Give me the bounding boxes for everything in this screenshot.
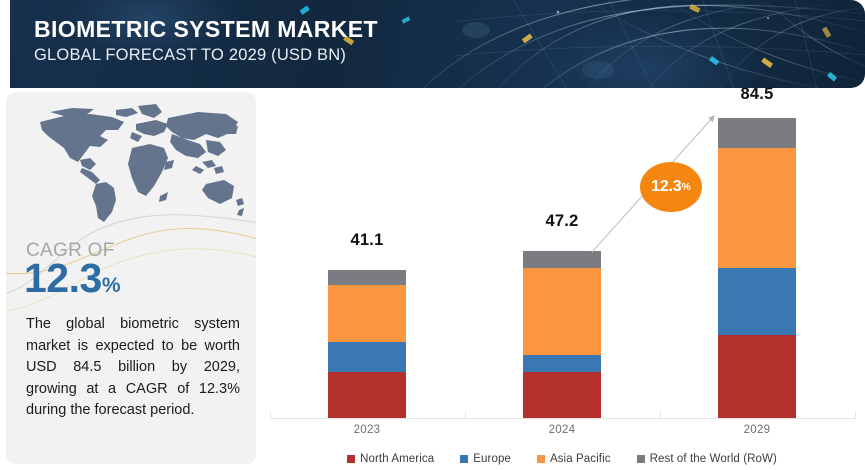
summary-description: The global biometric system market is ex… bbox=[26, 314, 240, 422]
legend-swatch-icon bbox=[637, 455, 645, 463]
legend-item-asia-pacific[interactable]: Asia Pacific bbox=[537, 453, 611, 465]
cagr-number: 12.3 bbox=[24, 255, 102, 301]
legend-item-rest-of-world[interactable]: Rest of the World (RoW) bbox=[637, 453, 777, 465]
legend-swatch-icon bbox=[460, 455, 468, 463]
legend-item-europe[interactable]: Europe bbox=[460, 453, 511, 465]
legend-item-north-america[interactable]: North America bbox=[347, 453, 434, 465]
x-axis-label-2029: 2029 bbox=[702, 424, 812, 436]
legend-label: Asia Pacific bbox=[550, 453, 611, 465]
x-axis-label-2023: 2023 bbox=[312, 424, 422, 436]
page-title: BIOMETRIC SYSTEM MARKET bbox=[34, 16, 378, 43]
plot-area: 41.1 2023 47.2 2024 84.5 bbox=[262, 92, 862, 425]
infographic-root: BIOMETRIC SYSTEM MARKET GLOBAL FORECAST … bbox=[0, 0, 865, 470]
cagr-percent-sign: % bbox=[102, 274, 121, 297]
summary-panel: CAGR OF 12.3% The global biometric syste… bbox=[6, 92, 256, 464]
cagr-badge-unit: % bbox=[682, 181, 691, 193]
legend-label: North America bbox=[360, 453, 434, 465]
cagr-value-block: 12.3% bbox=[24, 258, 121, 299]
legend-swatch-icon bbox=[537, 455, 545, 463]
x-axis-label-2024: 2024 bbox=[507, 424, 617, 436]
legend-label: Europe bbox=[473, 453, 511, 465]
page-subtitle: GLOBAL FORECAST TO 2029 (USD BN) bbox=[34, 45, 378, 66]
cagr-arrow bbox=[262, 92, 862, 425]
header-text-block: BIOMETRIC SYSTEM MARKET GLOBAL FORECAST … bbox=[34, 16, 378, 66]
legend-swatch-icon bbox=[347, 455, 355, 463]
header-banner: BIOMETRIC SYSTEM MARKET GLOBAL FORECAST … bbox=[10, 0, 865, 88]
chart-panel: 41.1 2023 47.2 2024 84.5 bbox=[262, 92, 862, 470]
chart-legend: North America Europe Asia Pacific Rest o… bbox=[262, 450, 862, 468]
legend-label: Rest of the World (RoW) bbox=[650, 453, 777, 465]
cagr-badge-value: 12.3 bbox=[651, 178, 681, 196]
cagr-callout-badge: 12.3% bbox=[640, 162, 702, 212]
